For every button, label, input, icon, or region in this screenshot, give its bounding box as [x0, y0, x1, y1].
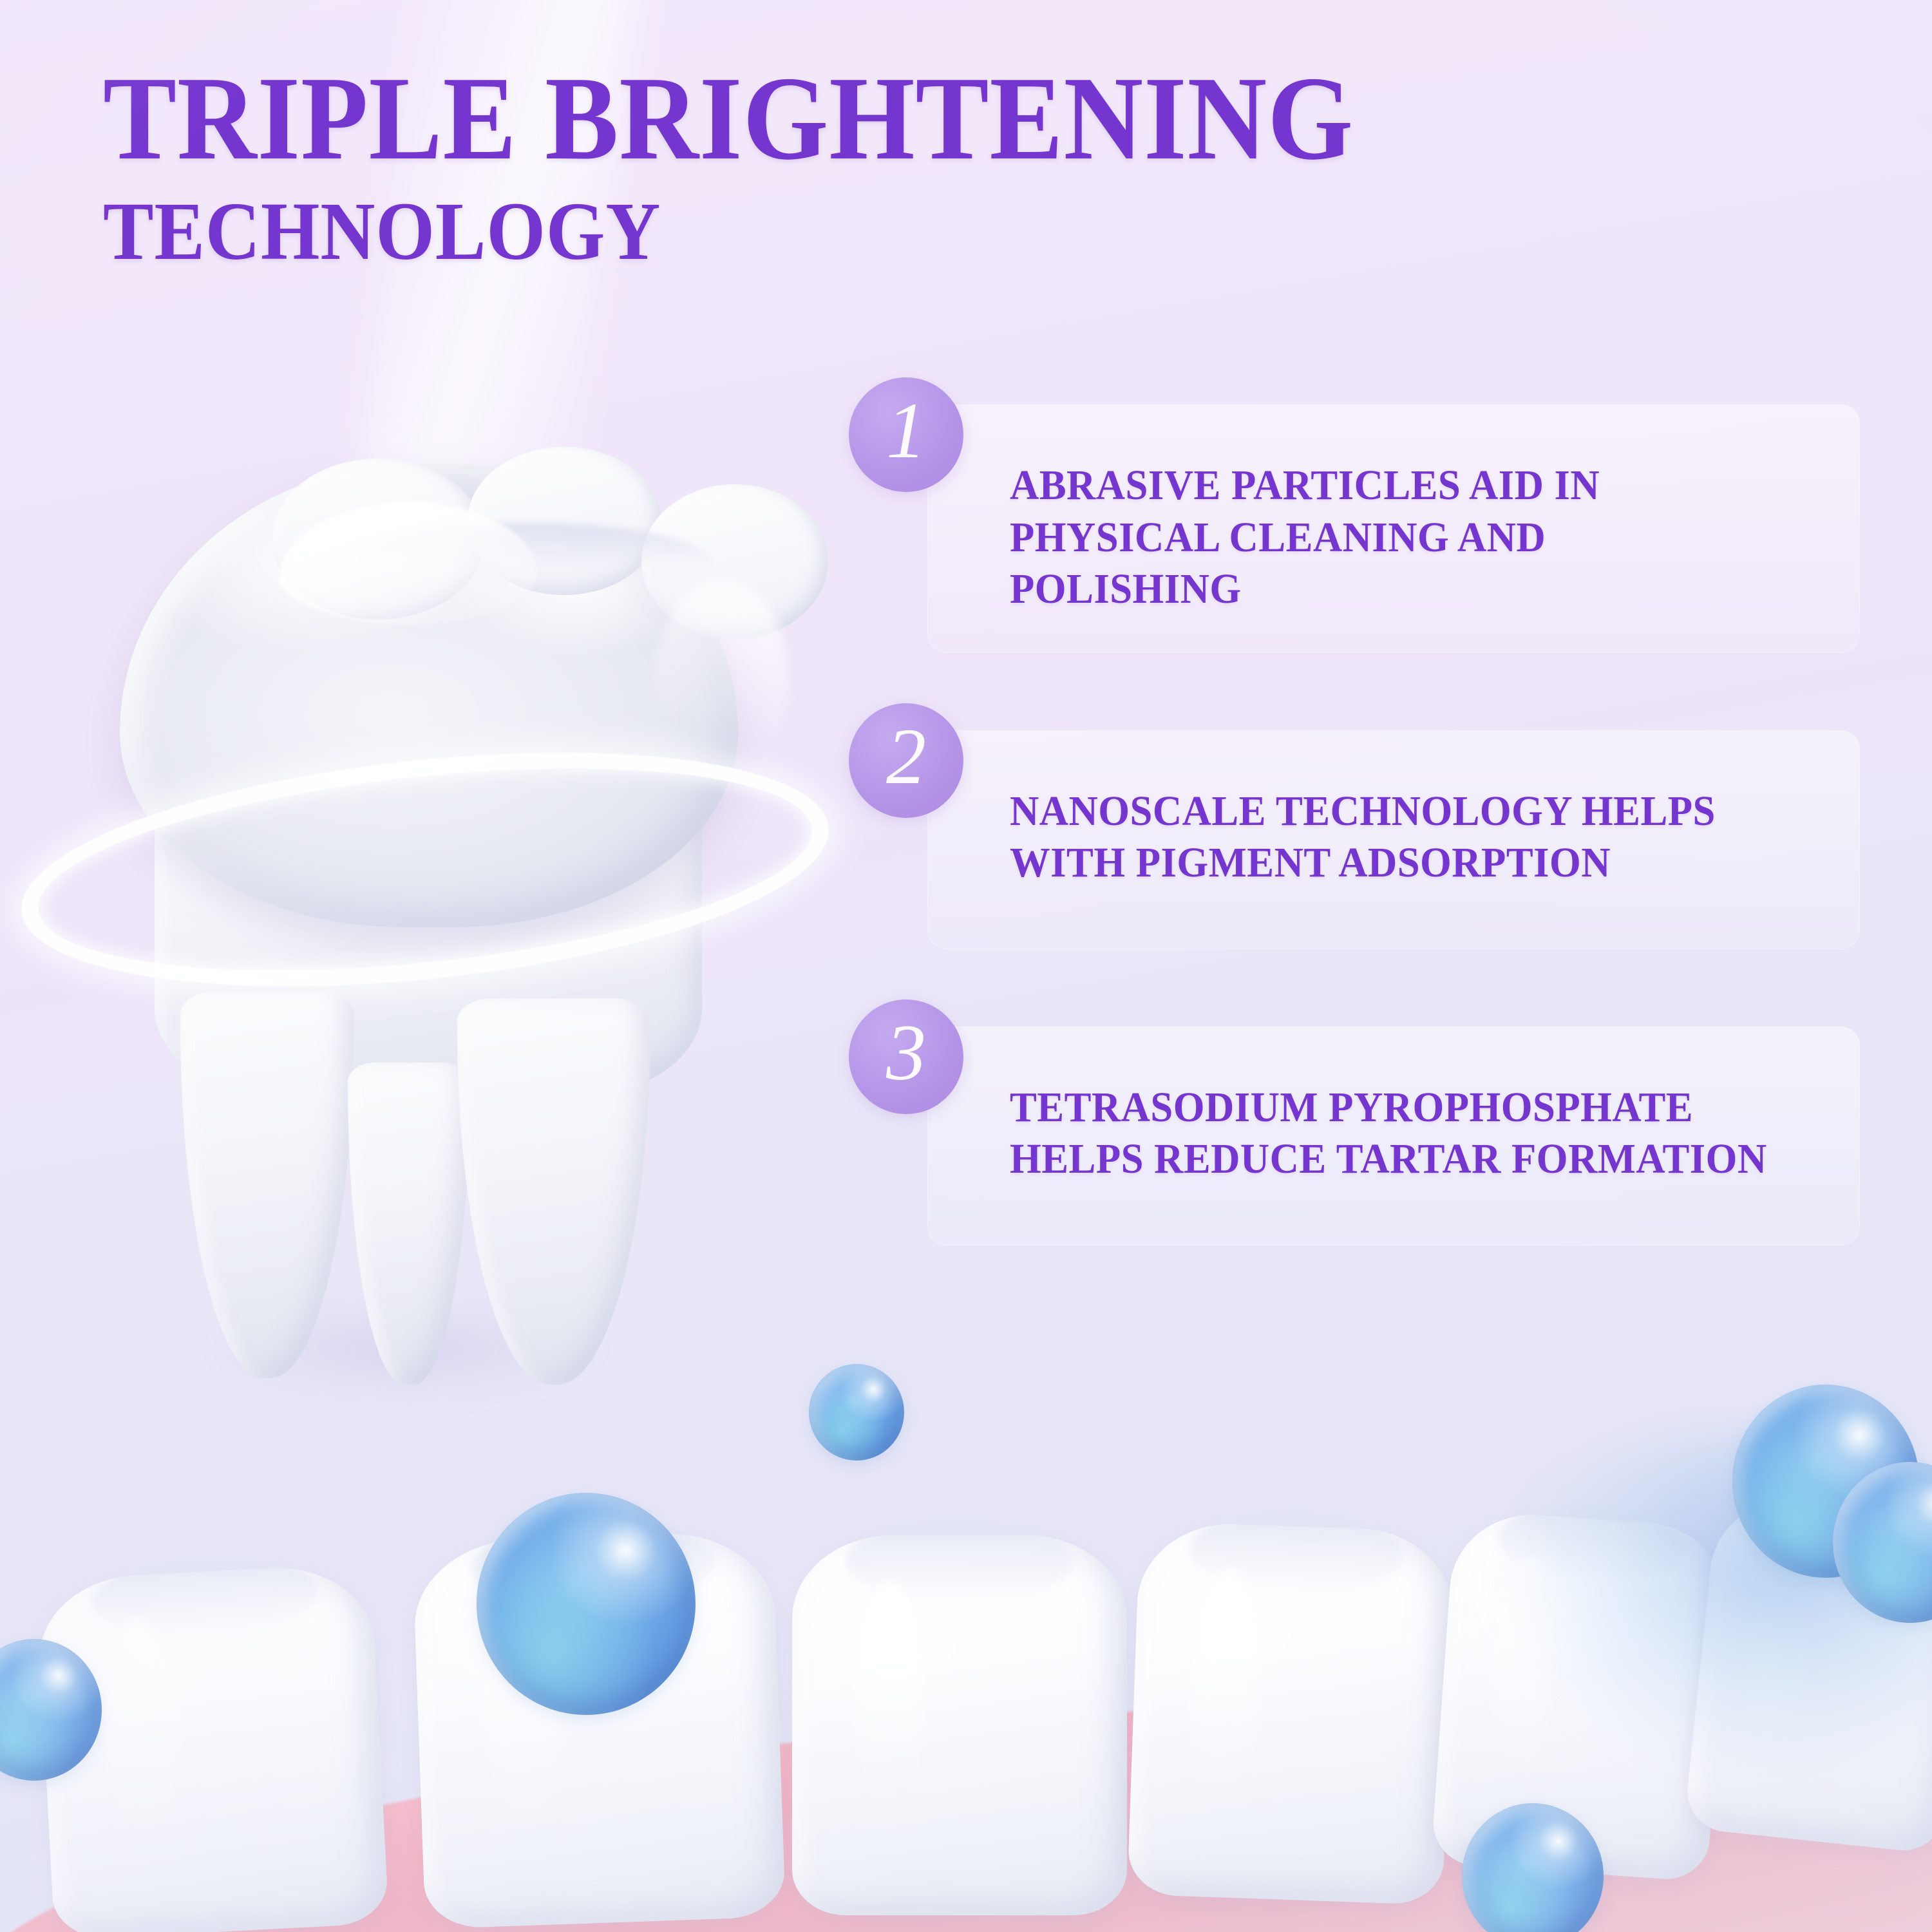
molar-highlight-primary	[279, 502, 537, 625]
feature-badge-2: 2	[849, 703, 963, 818]
feature-number-2: 2	[886, 717, 926, 797]
feature-item-1: 1 ABRASIVE PARTICLES AID IN PHYSICAL CLE…	[849, 404, 1860, 653]
bottom-teeth-scene	[0, 1404, 1932, 1932]
molar-root-left	[180, 992, 354, 1378]
page-title: TRIPLE BRIGHTENING TECHNOLOGY	[103, 62, 1463, 270]
feature-panel-2: NANOSCALE TECHNOLOGY HELPS WITH PIGMENT …	[927, 730, 1860, 949]
feature-item-2: 2 NANOSCALE TECHNOLOGY HELPS WITH PIGMEN…	[849, 730, 1860, 949]
feature-badge-3: 3	[849, 999, 963, 1114]
blue-bubble-medium	[477, 1493, 696, 1715]
feature-item-3: 3 TETRASODIUM PYROPHOSPHATE HELPS REDUCE…	[849, 1027, 1860, 1245]
headline-line-2: TECHNOLOGY	[103, 193, 1354, 271]
feature-number-3: 3	[886, 1013, 926, 1093]
molar-crown	[120, 464, 738, 927]
feature-number-1: 1	[886, 391, 926, 471]
molar-fissure	[352, 523, 712, 605]
molar-cusp-right	[641, 484, 828, 639]
molar-cusp-middle	[468, 447, 661, 595]
molar-highlight-secondary	[654, 580, 790, 786]
feature-panel-3: TETRASODIUM PYROPHOSPHATE HELPS REDUCE T…	[927, 1027, 1860, 1245]
molar-root-right	[457, 998, 650, 1385]
feature-text-2: NANOSCALE TECHNOLOGY HELPS WITH PIGMENT …	[1010, 786, 1775, 889]
bottom-tooth-4	[1127, 1521, 1455, 1906]
blue-bubble-small	[809, 1364, 904, 1461]
feature-badge-1: 1	[849, 377, 963, 492]
molar-drop-shadow	[206, 1301, 605, 1397]
molar-body	[155, 734, 702, 1095]
molar-cusp-left	[272, 459, 484, 620]
bottom-tooth-3	[792, 1535, 1127, 1915]
poster-canvas: TRIPLE BRIGHTENING TECHNOLOGY 1 ABRASIVE…	[0, 0, 1932, 1932]
headline-line-1: TRIPLE BRIGHTENING	[103, 62, 1354, 176]
feature-list: 1 ABRASIVE PARTICLES AID IN PHYSICAL CLE…	[849, 404, 1860, 1323]
molar-root-middle	[348, 1063, 470, 1385]
feature-panel-1: ABRASIVE PARTICLES AID IN PHYSICAL CLEAN…	[927, 404, 1860, 653]
feature-text-3: TETRASODIUM PYROPHOSPHATE HELPS REDUCE T…	[1010, 1082, 1775, 1186]
feature-text-1: ABRASIVE PARTICLES AID IN PHYSICAL CLEAN…	[1010, 460, 1775, 616]
hero-molar-illustration	[13, 464, 850, 1430]
glowing-orbit-ring-icon	[10, 718, 840, 1021]
